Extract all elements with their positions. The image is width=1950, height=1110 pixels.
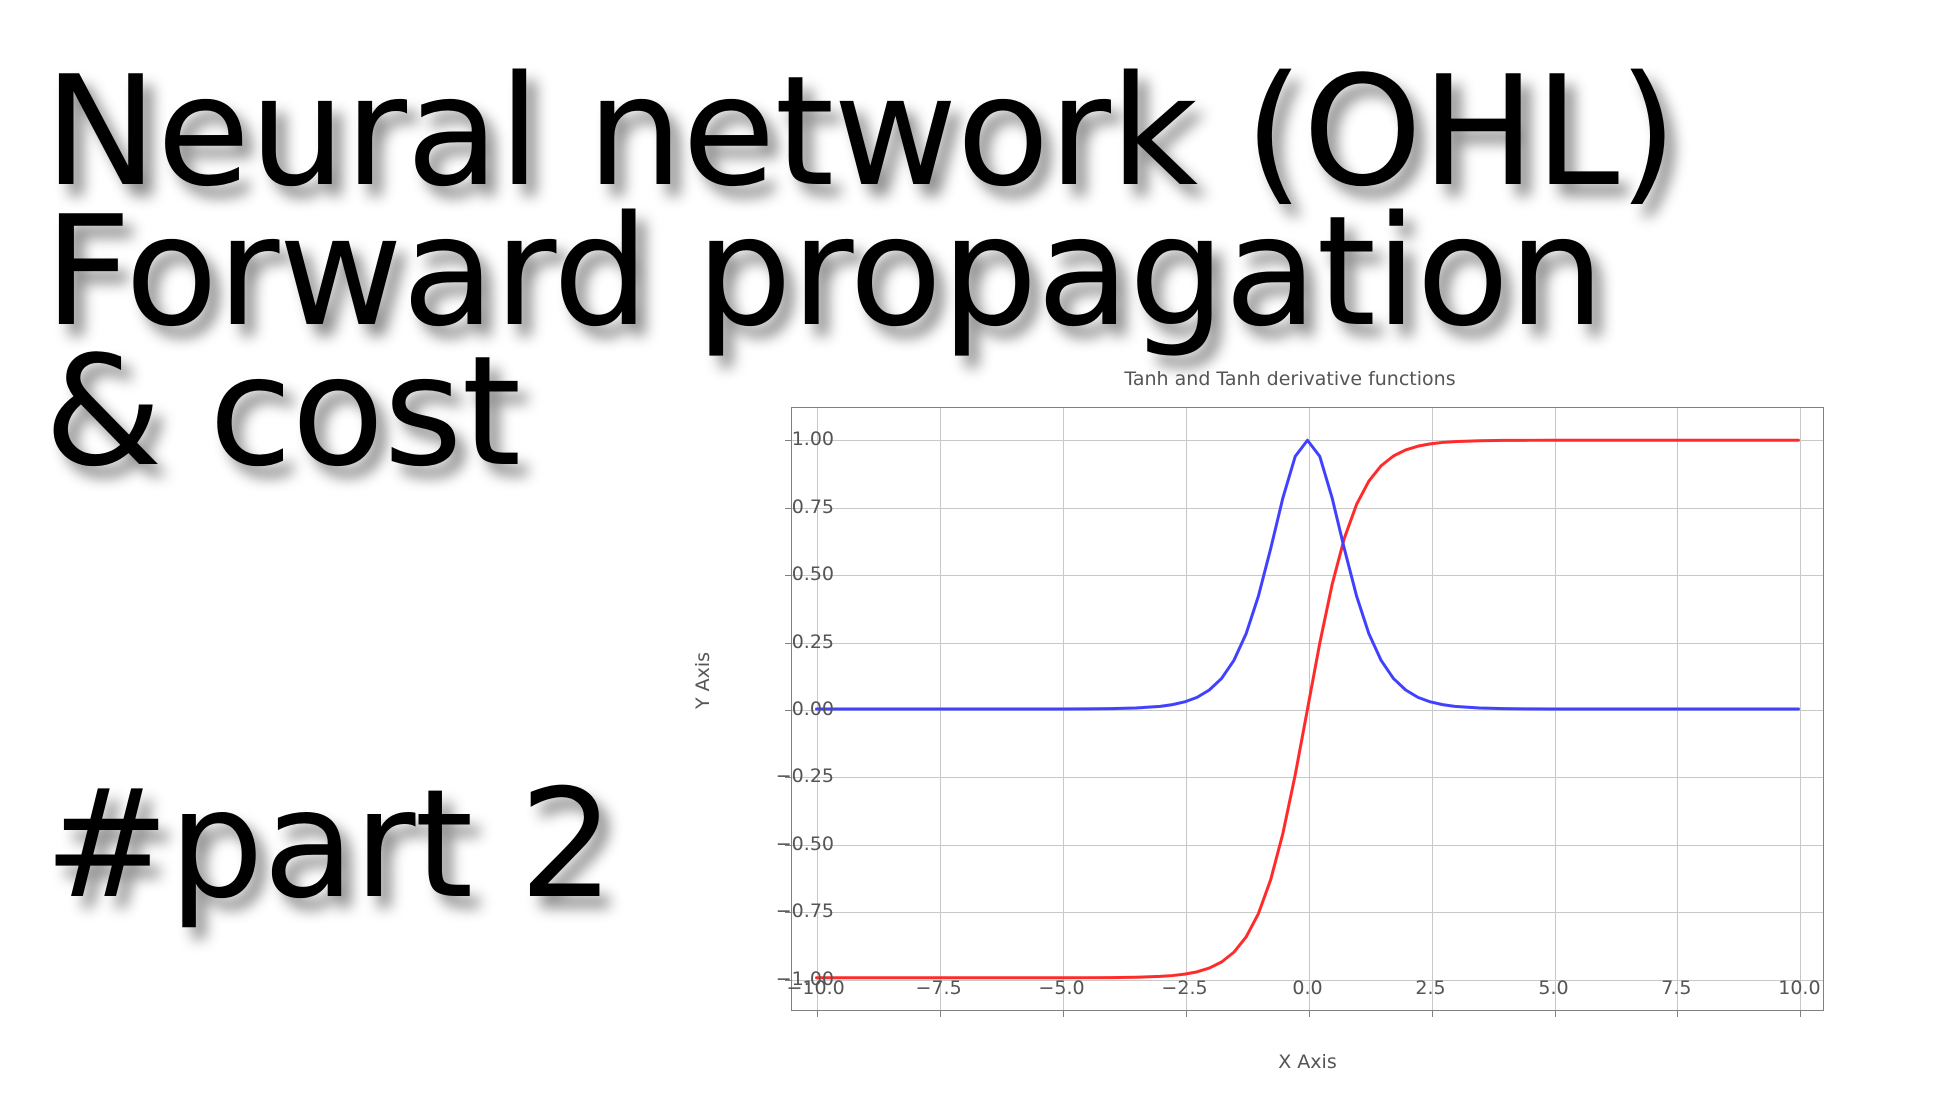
y-tick-label: 0.25: [792, 631, 834, 653]
x-tick-mark: [1309, 1011, 1310, 1017]
part-label: #part 2: [44, 770, 613, 920]
x-tick-label: 2.5: [1415, 977, 1445, 999]
x-tick-label: 10.0: [1778, 977, 1820, 999]
x-tick-mark: [817, 1011, 818, 1017]
x-tick-label: 7.5: [1661, 977, 1691, 999]
thumbnail-title-block: Neural network (OHL) Forward propagation…: [44, 62, 1444, 481]
title-line-1: Neural network (OHL): [44, 62, 1444, 202]
x-tick-label: −7.5: [916, 977, 962, 999]
y-axis-label: Y Axis: [692, 652, 714, 709]
x-tick-label: −5.0: [1038, 977, 1084, 999]
y-tick-mark: [785, 643, 791, 644]
y-tick-label: −0.25: [776, 765, 834, 787]
x-axis-label: X Axis: [791, 1051, 1824, 1073]
title-line-3: & cost: [44, 342, 1444, 482]
plot-axes: [791, 407, 1824, 1011]
x-tick-label: −2.5: [1161, 977, 1207, 999]
x-tick-mark: [1555, 1011, 1556, 1017]
x-tick-mark: [1432, 1011, 1433, 1017]
y-tick-label: 0.50: [792, 563, 834, 585]
y-tick-label: 0.00: [792, 698, 834, 720]
y-tick-mark: [785, 575, 791, 576]
plot-lines: [792, 408, 1823, 1010]
x-tick-label: 0.0: [1292, 977, 1322, 999]
x-tick-mark: [1677, 1011, 1678, 1017]
x-tick-mark: [940, 1011, 941, 1017]
x-tick-mark: [1186, 1011, 1187, 1017]
y-tick-label: −0.50: [776, 833, 834, 855]
x-tick-mark: [1800, 1011, 1801, 1017]
y-tick-label: −0.75: [776, 900, 834, 922]
x-tick-mark: [1063, 1011, 1064, 1017]
y-tick-label: 0.75: [792, 496, 834, 518]
x-tick-label: 5.0: [1538, 977, 1568, 999]
y-tick-label: −1.00: [776, 968, 834, 990]
y-tick-mark: [785, 508, 791, 509]
y-tick-mark: [785, 710, 791, 711]
title-line-2: Forward propagation: [44, 202, 1444, 342]
